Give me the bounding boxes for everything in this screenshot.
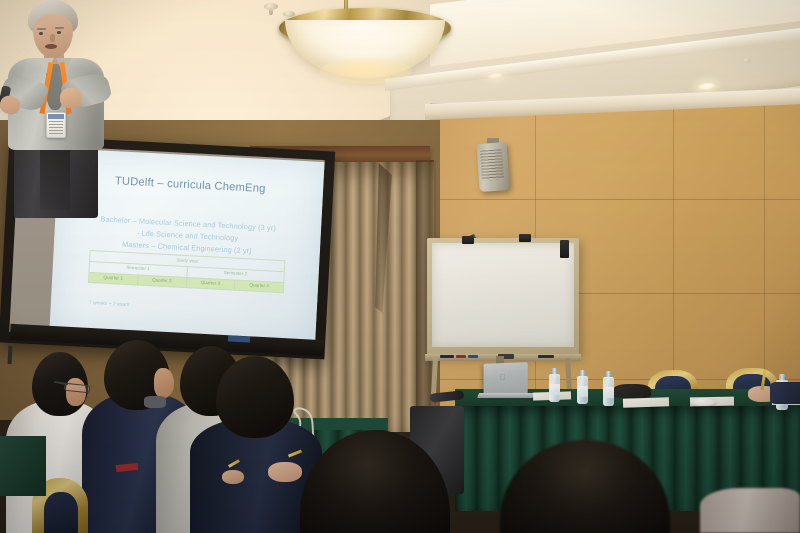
laptop-base	[477, 393, 535, 398]
paper-sheet	[623, 397, 669, 408]
attendee-light-shoulder	[700, 488, 800, 533]
attendee-head	[216, 356, 294, 438]
whiteboard-clip-icon	[519, 234, 531, 242]
cell-quarter-2: Quarter 2	[137, 275, 186, 288]
cell-quarter-4: Quarter 4	[235, 280, 284, 293]
pa-speaker-grille	[480, 149, 504, 180]
presenter-eye-right	[57, 31, 61, 34]
screen-brand-badge	[228, 335, 250, 342]
presenter-mouth-speaking	[45, 44, 57, 49]
attendee-sleeve	[770, 382, 800, 404]
cell-quarter-1: Quarter 1	[88, 272, 137, 285]
chair-navy-upholstery	[44, 492, 78, 533]
badge-header-band	[48, 114, 64, 119]
sprinkler-head-icon	[742, 58, 751, 63]
list-item	[300, 430, 450, 533]
dark-bag	[613, 384, 651, 398]
slide-curriculum-table: Study year Semester 1 Semester 2 Quarter…	[88, 250, 285, 294]
presenter-trousers-shadow	[40, 146, 70, 210]
water-bottle	[577, 370, 588, 404]
sprinkler-pipe	[269, 8, 273, 15]
whiteboard-surface	[432, 243, 574, 347]
marker-dark-icon	[538, 355, 554, 358]
whiteboard-clip-icon	[560, 240, 569, 258]
list-item	[500, 440, 670, 533]
attendee-hand-writing	[222, 470, 244, 484]
conference-room-photograph: TUDelft – curricula ChemEng Bachelor – M…	[0, 0, 800, 533]
saucer	[690, 398, 716, 406]
marker-blue-icon	[468, 355, 478, 358]
bottle-body	[549, 374, 560, 402]
marker-black-icon	[440, 355, 454, 358]
badge-text-lines	[49, 121, 63, 135]
attendee-head	[300, 430, 450, 533]
marker-red-icon	[456, 355, 466, 358]
bottle-body	[577, 376, 588, 404]
apple-logo-icon: 	[500, 374, 507, 382]
presenter-brow-right	[55, 27, 64, 29]
audience-table-left	[0, 436, 46, 496]
water-bottle	[603, 371, 614, 406]
cell-quarter-3: Quarter 3	[186, 277, 235, 290]
whiteboard-clip-icon	[462, 236, 474, 244]
bottle-label	[603, 387, 614, 398]
presenter-right-hand	[60, 88, 82, 108]
bottle-label	[577, 386, 588, 397]
presenter-eye-left	[39, 32, 43, 35]
bottle-label	[549, 384, 560, 395]
attendee-hand-writing	[268, 462, 302, 482]
water-bottle	[549, 368, 560, 402]
attendee-head	[500, 440, 670, 533]
presenter-nose	[50, 34, 55, 42]
slide-footnote: 7 weeks + 2 exam	[89, 300, 130, 308]
presenter-brow-left	[37, 28, 46, 30]
bottle-body	[603, 377, 614, 406]
chandelier-glow	[320, 58, 412, 84]
